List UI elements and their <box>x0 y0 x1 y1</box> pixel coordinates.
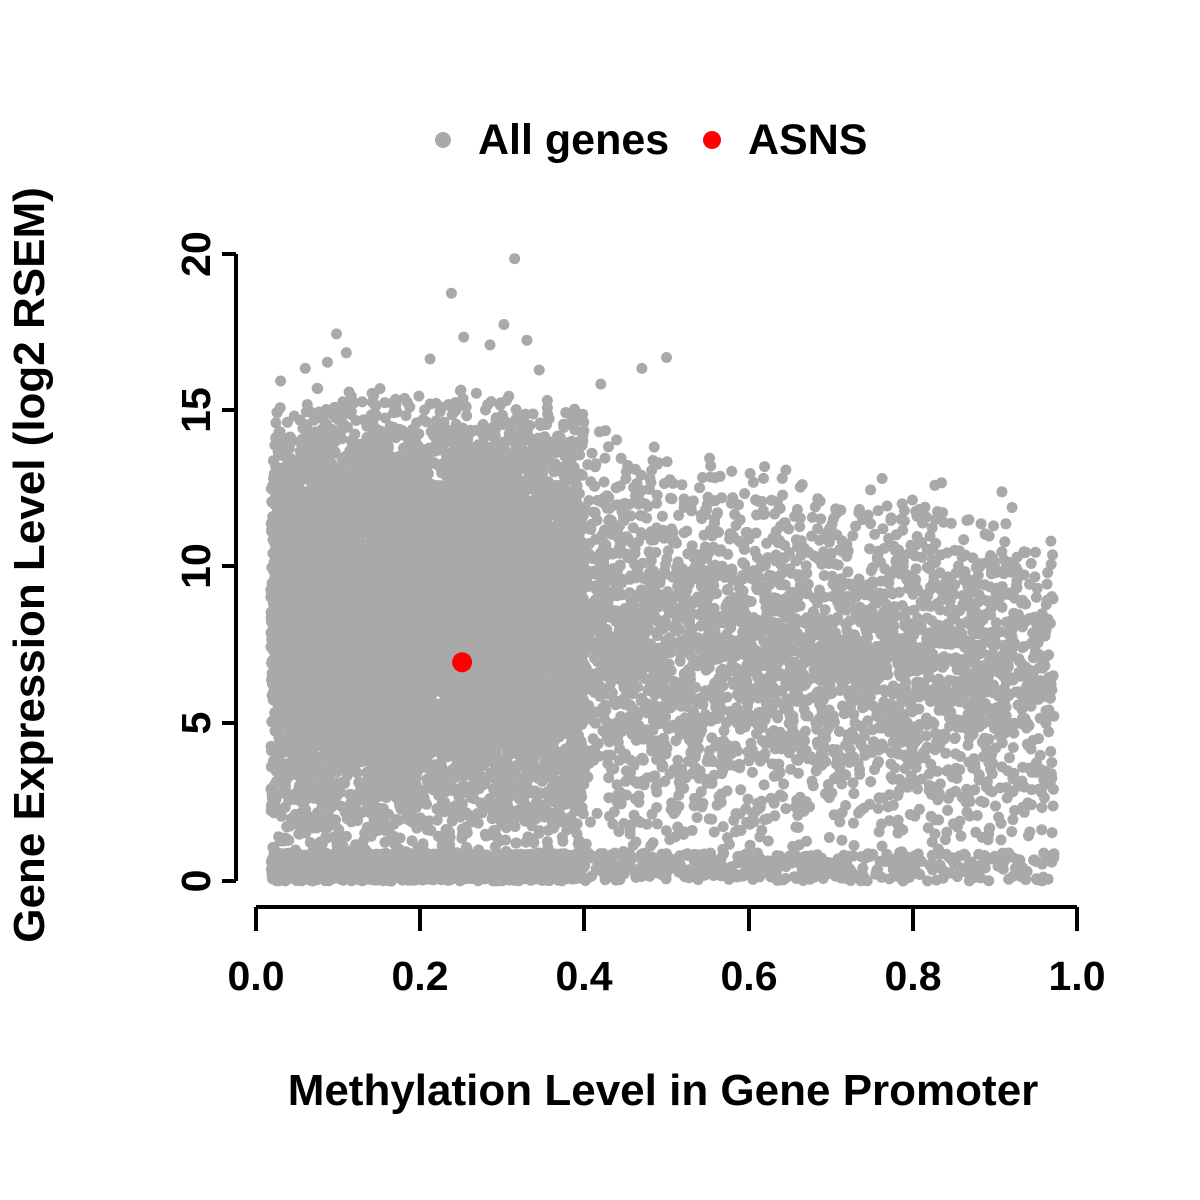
data-point <box>741 527 752 538</box>
scatter-plot-figure: 20 15 10 5 0 0.0 0.2 0.4 0.6 0.8 1.0 Met… <box>0 0 1200 1200</box>
data-point <box>1023 740 1034 751</box>
data-point <box>1048 801 1059 812</box>
data-point <box>1047 827 1058 838</box>
data-point <box>976 518 987 529</box>
data-point <box>745 468 756 479</box>
data-point <box>948 676 959 687</box>
data-point <box>897 525 908 536</box>
data-point <box>312 383 323 394</box>
data-point <box>807 776 818 787</box>
data-point <box>759 461 770 472</box>
data-point <box>1036 802 1047 813</box>
data-point <box>704 453 715 464</box>
data-point <box>1026 558 1037 569</box>
data-point <box>932 506 943 517</box>
data-point <box>618 818 629 829</box>
data-point <box>999 536 1010 547</box>
data-point <box>1033 733 1044 744</box>
data-point <box>766 495 777 506</box>
data-point <box>471 388 482 399</box>
data-point <box>1023 830 1034 841</box>
data-point <box>1036 824 1047 835</box>
data-point <box>603 441 614 452</box>
data-point <box>862 715 873 726</box>
data-point <box>585 817 596 828</box>
data-point <box>1042 579 1053 590</box>
data-point <box>848 788 859 799</box>
data-point <box>694 482 705 493</box>
plot-canvas: 20 15 10 5 0 0.0 0.2 0.4 0.6 0.8 1.0 Met… <box>0 0 1200 1200</box>
data-point <box>842 566 853 577</box>
data-point <box>592 808 603 819</box>
data-point <box>1047 549 1058 560</box>
data-point <box>679 527 690 538</box>
data-point <box>1004 752 1015 763</box>
data-point <box>600 453 611 464</box>
data-point <box>1000 518 1011 529</box>
data-point <box>758 473 769 484</box>
